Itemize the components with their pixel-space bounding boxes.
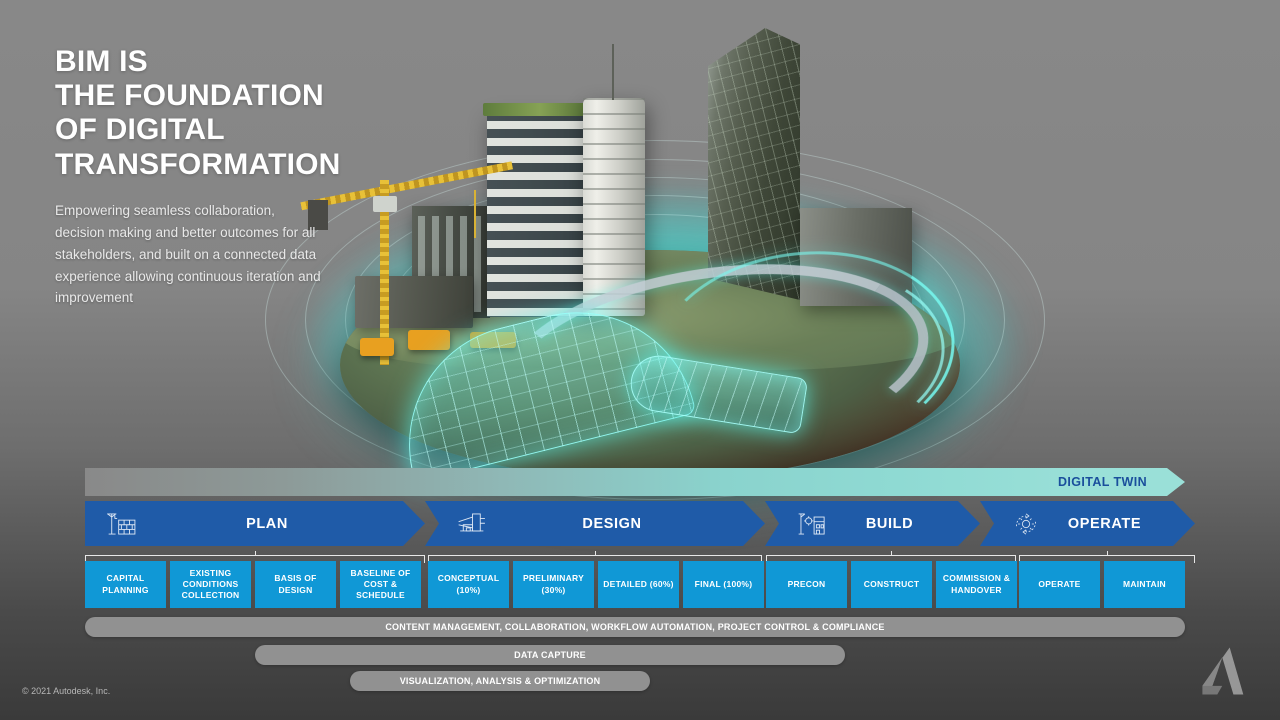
autodesk-logo bbox=[1190, 640, 1252, 702]
substage-box[interactable]: CONCEPTUAL (10%) bbox=[428, 561, 509, 608]
substage-box[interactable]: EXISTING CONDITIONS COLLECTION bbox=[170, 561, 251, 608]
substage-box[interactable]: BASIS OF DESIGN bbox=[255, 561, 336, 608]
headline-line-3: OF DIGITAL bbox=[55, 113, 385, 147]
substage-box[interactable]: MAINTAIN bbox=[1104, 561, 1185, 608]
phase-label: OPERATE bbox=[1048, 516, 1195, 532]
substage-box[interactable]: DETAILED (60%) bbox=[598, 561, 679, 608]
capability-pill[interactable]: VISUALIZATION, ANALYSIS & OPTIMIZATION bbox=[350, 671, 650, 691]
phase-label: PLAN bbox=[143, 516, 425, 532]
substage-box[interactable]: BASELINE OF COST & SCHEDULE bbox=[340, 561, 421, 608]
substage-box[interactable]: PRECON bbox=[766, 561, 847, 608]
digital-twin-banner: DIGITAL TWIN bbox=[85, 468, 1185, 496]
digital-twin-city-render bbox=[300, 20, 1000, 480]
substage-row: CAPITAL PLANNINGEXISTING CONDITIONS COLL… bbox=[85, 561, 1195, 608]
substage-box[interactable]: CAPITAL PLANNING bbox=[85, 561, 166, 608]
substage-box[interactable]: COMMISSION & HANDOVER bbox=[936, 561, 1017, 608]
building-blueprint-icon bbox=[449, 509, 493, 539]
construction-site-icon bbox=[789, 509, 833, 539]
slide-canvas: BIM IS THE FOUNDATION OF DIGITAL TRANSFO… bbox=[0, 0, 1280, 720]
headline-line-2: THE FOUNDATION bbox=[55, 79, 385, 113]
substage-box[interactable]: OPERATE bbox=[1019, 561, 1100, 608]
subtitle-paragraph: Empowering seamless collaboration, decis… bbox=[55, 200, 323, 309]
phase-chevron-operate[interactable]: OPERATE bbox=[980, 501, 1195, 546]
substage-box[interactable]: PRELIMINARY (30%) bbox=[513, 561, 594, 608]
substage-box[interactable]: CONSTRUCT bbox=[851, 561, 932, 608]
phase-chevron-row: PLANDESIGNBUILDOPERATE bbox=[85, 501, 1195, 546]
capability-pill[interactable]: DATA CAPTURE bbox=[255, 645, 845, 665]
substage-box[interactable]: FINAL (100%) bbox=[683, 561, 764, 608]
phase-chevron-plan[interactable]: PLAN bbox=[85, 501, 425, 546]
digital-twin-label: DIGITAL TWIN bbox=[1058, 475, 1147, 489]
gear-cycle-icon bbox=[1004, 510, 1048, 538]
phase-label: DESIGN bbox=[493, 516, 765, 532]
phase-chevron-build[interactable]: BUILD bbox=[765, 501, 980, 546]
crane-brickwall-icon bbox=[99, 509, 143, 539]
headline-line-1: BIM IS bbox=[55, 45, 385, 79]
phase-chevron-design[interactable]: DESIGN bbox=[425, 501, 765, 546]
page-title: BIM IS THE FOUNDATION OF DIGITAL TRANSFO… bbox=[55, 45, 385, 182]
capability-pill[interactable]: CONTENT MANAGEMENT, COLLABORATION, WORKF… bbox=[85, 617, 1185, 637]
headline-line-4: TRANSFORMATION bbox=[55, 148, 385, 182]
phase-label: BUILD bbox=[833, 516, 980, 532]
copyright-text: © 2021 Autodesk, Inc. bbox=[22, 686, 110, 696]
